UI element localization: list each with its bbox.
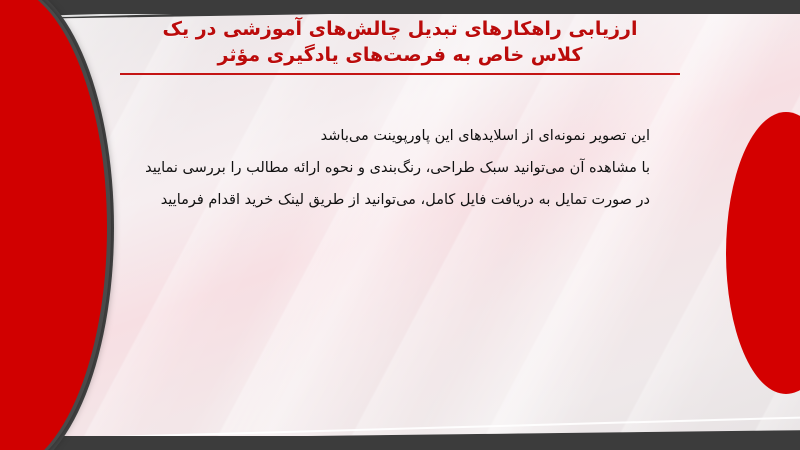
body-line-1: این تصویر نمونه‌ای از اسلایدهای این پاور… xyxy=(150,120,650,152)
title-underline-rule xyxy=(120,73,680,75)
slide-title: ارزیابی راهکارهای تبدیل چالش‌های آموزشی … xyxy=(120,16,680,75)
slide-title-line-1: ارزیابی راهکارهای تبدیل چالش‌های آموزشی … xyxy=(120,16,680,42)
slide-body: این تصویر نمونه‌ای از اسلایدهای این پاور… xyxy=(150,120,650,216)
presentation-slide: ارزیابی راهکارهای تبدیل چالش‌های آموزشی … xyxy=(0,0,800,450)
slide-title-line-2: کلاس خاص به فرصت‌های یادگیری مؤثر xyxy=(120,42,680,68)
slide-bottom-border-band xyxy=(0,436,800,450)
body-line-3: در صورت تمایل به دریافت فایل کامل، می‌تو… xyxy=(150,184,650,216)
body-line-2: با مشاهده آن می‌توانید سبک طراحی، رنگ‌بن… xyxy=(150,152,650,184)
slide-top-border-band xyxy=(0,0,800,14)
